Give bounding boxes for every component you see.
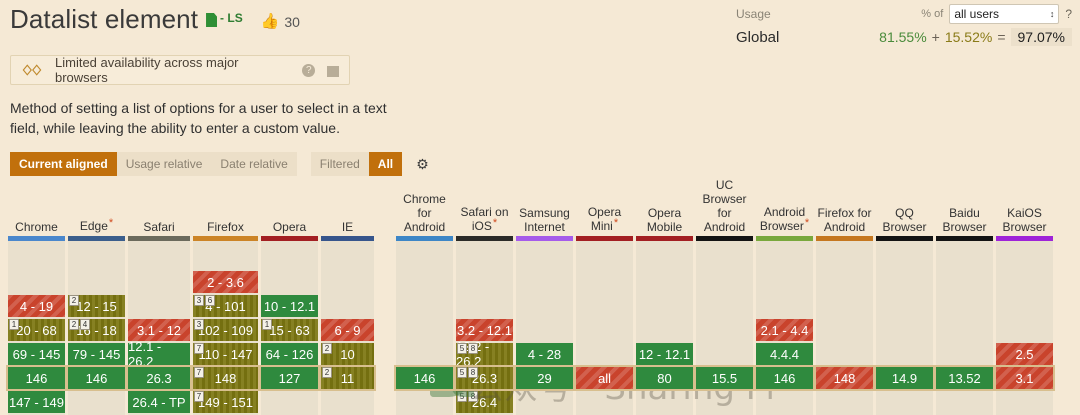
version-label: 147 - 149 — [9, 395, 64, 410]
page-title: Datalist element — [10, 4, 198, 35]
column-body: 2.1 - 4.44.4.4146 — [756, 241, 813, 415]
version-label: 11 — [341, 371, 355, 386]
version-cell[interactable]: 7149 - 151 — [193, 391, 258, 413]
footnote-badges: 36 — [194, 295, 215, 306]
btn-current-aligned[interactable]: Current aligned — [10, 152, 117, 176]
like-count: 30 — [284, 14, 300, 30]
version-cell — [321, 271, 374, 293]
usage-plus-sign: + — [932, 29, 940, 45]
column-header-label: KaiOS Browser — [996, 206, 1053, 234]
footnote-badge[interactable]: 8 — [468, 343, 478, 354]
spec-document-icon — [206, 13, 217, 27]
version-cell — [696, 295, 753, 317]
column-header-label: Opera Mobile — [636, 206, 693, 234]
version-label: 2.1 - 4.4 — [761, 323, 809, 338]
version-cell — [261, 271, 318, 293]
browser-column-qq-browser: QQ Browser14.9 — [876, 188, 933, 415]
feature-description: Method of setting a list of options for … — [10, 98, 410, 138]
version-cell[interactable]: 3102 - 109 — [193, 319, 258, 341]
usage-help-icon[interactable]: ? — [1065, 7, 1072, 21]
flag-icon[interactable] — [327, 66, 339, 77]
version-label: 26.3 — [146, 371, 171, 386]
column-body: 4 - 19120 - 6869 - 145146147 - 149 — [8, 241, 65, 415]
version-label: 110 - 147 — [199, 347, 253, 362]
browser-column-opera-mini: Opera Mini*all — [576, 188, 633, 415]
column-header-safari-on-ios[interactable]: Safari on iOS* — [456, 188, 513, 236]
column-header-baidu-browser[interactable]: Baidu Browser — [936, 188, 993, 236]
footnote-badges: 1 — [262, 319, 272, 330]
version-label: 2 - 3.6 — [207, 275, 244, 290]
footnote-badge[interactable]: 7 — [194, 391, 204, 402]
version-cell — [876, 271, 933, 293]
version-cell — [576, 295, 633, 317]
version-label: 3.1 — [1015, 371, 1033, 386]
version-label: 20 - 68 — [16, 323, 56, 338]
footnote-badge[interactable]: 5 — [457, 367, 467, 378]
footnote-badge[interactable]: 5 — [457, 391, 467, 402]
version-label: 102 - 109 — [198, 323, 253, 338]
browser-column-opera: Opera10 - 12.1115 - 6364 - 126127 — [261, 188, 318, 415]
version-cell[interactable]: 212 - 15 — [68, 295, 125, 317]
version-label: 149 - 151 — [198, 395, 253, 410]
chevron-updown-icon: ↕ — [1050, 10, 1055, 18]
column-body: 14.9 — [876, 241, 933, 415]
version-label: 146 — [414, 371, 436, 386]
version-cell — [816, 271, 873, 293]
column-header-label: Firefox for Android — [816, 206, 873, 234]
version-label: 146 — [26, 371, 48, 386]
version-cell[interactable]: 79 - 145 — [68, 343, 125, 365]
version-cell — [456, 295, 513, 317]
browser-column-safari: Safari3.1 - 1212.1 - 26.226.326.4 - TP — [128, 188, 190, 415]
version-cell-current[interactable]: 211 — [321, 367, 374, 389]
spec-status-badge[interactable]: - LS — [206, 11, 243, 25]
column-body: 148 — [816, 241, 873, 415]
version-cell — [636, 295, 693, 317]
footnote-badge[interactable]: 7 — [194, 367, 204, 378]
version-cell — [876, 391, 933, 413]
version-label: 26.4 - TP — [132, 395, 185, 410]
column-body: 3.1 - 1212.1 - 26.226.326.4 - TP — [128, 241, 190, 415]
title-row: Datalist element - LS 👍 30 — [10, 4, 300, 35]
version-label: 2.5 — [1015, 347, 1033, 362]
version-cell — [456, 271, 513, 293]
version-cell-current[interactable]: 13.52 — [936, 367, 993, 389]
version-cell[interactable]: 364 - 101 — [193, 295, 258, 317]
column-body: 2 - 3.6364 - 1013102 - 1097110 - 1477148… — [193, 241, 258, 415]
version-cell[interactable]: 3.1 - 12 — [128, 319, 190, 341]
version-cell — [996, 271, 1053, 293]
column-header-firefox[interactable]: Firefox — [193, 188, 258, 236]
version-cell[interactable]: 4.4.4 — [756, 343, 813, 365]
version-label: 3.2 - 12.1 — [457, 323, 512, 338]
version-cell — [996, 391, 1053, 413]
version-cell-current[interactable]: all — [576, 367, 633, 389]
column-header-edge[interactable]: Edge* — [68, 188, 125, 236]
version-cell-current[interactable]: 29 — [516, 367, 573, 389]
version-label: 13.52 — [948, 371, 981, 386]
version-cell-current[interactable]: 146 — [8, 367, 65, 389]
browser-group-desktop: Chrome4 - 19120 - 6869 - 145146147 - 149… — [8, 188, 374, 415]
column-body: 146 — [396, 241, 453, 415]
footnote-badge[interactable]: 2 — [69, 295, 79, 306]
usage-region-label: Global — [736, 29, 779, 46]
version-cell[interactable]: 147 - 149 — [8, 391, 65, 413]
btn-date-relative[interactable]: Date relative — [211, 152, 296, 176]
usage-label: Usage — [736, 7, 771, 21]
version-label: 6 - 9 — [334, 323, 360, 338]
asterisk-note-icon: * — [109, 217, 113, 229]
version-cell-current[interactable]: 127 — [261, 367, 318, 389]
version-label: 29 — [537, 371, 551, 386]
version-cell — [636, 391, 693, 413]
column-header-android-browser[interactable]: Android Browser* — [756, 188, 813, 236]
version-label: 4 - 19 — [20, 299, 53, 314]
version-cell — [696, 343, 753, 365]
version-cell-current[interactable]: 5826.3 — [456, 367, 513, 389]
version-cell — [516, 391, 573, 413]
version-cell-current[interactable]: 146 — [756, 367, 813, 389]
column-body: 6 - 9210211 — [321, 241, 374, 415]
column-header-label: Samsung Internet — [516, 206, 573, 234]
browser-column-baidu-browser: Baidu Browser13.52 — [936, 188, 993, 415]
table-toolbar: Current aligned Usage relative Date rela… — [10, 152, 429, 176]
version-cell[interactable]: 5826.4 — [456, 391, 513, 413]
version-cell[interactable]: 5812.2 - 26.2 — [456, 343, 513, 365]
version-cell — [261, 391, 318, 413]
version-cell-current[interactable]: 80 — [636, 367, 693, 389]
footnote-badges: 24 — [69, 319, 90, 330]
column-header-firefox-for-android[interactable]: Firefox for Android — [816, 188, 873, 236]
version-cell[interactable]: 2 - 3.6 — [193, 271, 258, 293]
view-mode-group: Current aligned Usage relative Date rela… — [10, 152, 297, 176]
version-cell — [636, 319, 693, 341]
column-header-label: IE — [342, 220, 353, 234]
page-header: Datalist element - LS 👍 30 Usage % of al… — [0, 0, 1080, 48]
version-cell-current[interactable]: 3.1 — [996, 367, 1053, 389]
version-cell — [876, 295, 933, 317]
version-label: 3.1 - 12 — [137, 323, 181, 338]
version-label: 69 - 145 — [13, 347, 61, 362]
version-cell — [128, 295, 190, 317]
version-cell-current[interactable]: 15.5 — [696, 367, 753, 389]
version-cell — [936, 391, 993, 413]
asterisk-note-icon: * — [805, 217, 809, 229]
column-body: 3.2 - 12.15812.2 - 26.25826.35826.4 — [456, 241, 513, 415]
column-header-chrome-for-android[interactable]: Chrome for Android — [396, 188, 453, 236]
version-cell — [396, 271, 453, 293]
browser-column-edge: Edge*212 - 152416 - 1879 - 145146 — [68, 188, 125, 415]
version-cell — [576, 391, 633, 413]
version-label: 14.9 — [892, 371, 917, 386]
baseline-limited-icon — [21, 62, 43, 78]
usage-partial-value: 15.52% — [945, 29, 992, 45]
version-cell[interactable]: 2.5 — [996, 343, 1053, 365]
version-cell[interactable]: 12.1 - 26.2 — [128, 343, 190, 365]
footnote-badge[interactable]: 3 — [194, 319, 204, 330]
version-label: 146 — [86, 371, 108, 386]
version-label: 4.4.4 — [770, 347, 799, 362]
version-label: 12.1 - 26.2 — [128, 339, 190, 369]
thumbs-up-icon: 👍 — [261, 14, 280, 29]
column-header-label: Edge* — [80, 219, 113, 234]
column-body: all — [576, 241, 633, 415]
version-label: 12 - 12.1 — [639, 347, 690, 362]
browser-column-firefox: Firefox2 - 3.6364 - 1013102 - 1097110 - … — [193, 188, 258, 415]
version-cell — [996, 319, 1053, 341]
version-cell — [636, 271, 693, 293]
column-header-kaios-browser[interactable]: KaiOS Browser — [996, 188, 1053, 236]
version-label: 127 — [279, 371, 301, 386]
version-cell[interactable]: 6 - 9 — [321, 319, 374, 341]
version-cell — [516, 295, 573, 317]
usage-equals-sign: = — [997, 29, 1005, 45]
usage-global-row: Global 81.55% + 15.52% = 97.07% — [736, 26, 1072, 48]
version-label: 15 - 63 — [269, 323, 309, 338]
column-header-label: Baidu Browser — [936, 206, 993, 234]
baseline-text: Limited availability across major browse… — [55, 55, 290, 85]
version-cell — [516, 271, 573, 293]
percent-of-label: % of — [921, 8, 943, 20]
version-cell — [396, 391, 453, 413]
question-circle-icon[interactable]: ? — [302, 64, 315, 77]
version-cell[interactable]: 115 - 63 — [261, 319, 318, 341]
column-header-safari[interactable]: Safari — [128, 188, 190, 236]
version-cell — [396, 319, 453, 341]
version-cell — [756, 295, 813, 317]
footnote-badge[interactable]: 8 — [468, 391, 478, 402]
footnote-badge[interactable]: 8 — [468, 367, 478, 378]
browser-column-kaios-browser: KaiOS Browser2.53.1 — [996, 188, 1053, 415]
version-cell[interactable]: 4 - 28 — [516, 343, 573, 365]
column-body: 13.52 — [936, 241, 993, 415]
version-cell-current[interactable]: 26.3 — [128, 367, 190, 389]
version-cell — [321, 391, 374, 413]
version-cell — [996, 295, 1053, 317]
filter-group: Filtered All — [311, 152, 402, 176]
column-header-label: Android Browser* — [756, 205, 813, 234]
baseline-banner[interactable]: Limited availability across major browse… — [10, 55, 350, 85]
column-header-samsung-internet[interactable]: Samsung Internet — [516, 188, 573, 236]
usage-supported-value: 81.55% — [879, 29, 926, 45]
browser-column-firefox-for-android: Firefox for Android148 — [816, 188, 873, 415]
footnote-badges: 7 — [194, 367, 204, 378]
column-header-opera[interactable]: Opera — [261, 188, 318, 236]
version-cell — [516, 319, 573, 341]
column-header-label: Firefox — [207, 220, 244, 234]
footnote-badge[interactable]: 2 — [69, 319, 79, 330]
column-header-uc-browser-for-android[interactable]: UC Browser for Android — [696, 188, 753, 236]
version-cell — [576, 319, 633, 341]
version-cell-current[interactable]: 7148 — [193, 367, 258, 389]
version-label: 10 — [340, 347, 354, 362]
column-header-label: UC Browser for Android — [696, 178, 753, 234]
version-cell — [68, 391, 125, 413]
version-label: 10 - 12.1 — [264, 299, 315, 314]
version-cell[interactable]: 64 - 126 — [261, 343, 318, 365]
version-cell-current[interactable]: 148 — [816, 367, 873, 389]
version-cell — [816, 391, 873, 413]
browser-column-chrome: Chrome4 - 19120 - 6869 - 145146147 - 149 — [8, 188, 65, 415]
footnote-badges: 2 — [69, 295, 79, 306]
version-cell — [816, 295, 873, 317]
column-header-label: Safari on iOS* — [456, 205, 513, 234]
column-body: 10 - 12.1115 - 6364 - 126127 — [261, 241, 318, 415]
version-cell — [936, 319, 993, 341]
version-cell — [816, 319, 873, 341]
browser-column-android-browser: Android Browser*2.1 - 4.44.4.4146 — [756, 188, 813, 415]
gear-icon[interactable]: ⚙ — [416, 156, 429, 173]
column-header-label: Opera Mini* — [576, 205, 633, 234]
column-header-chrome[interactable]: Chrome — [8, 188, 65, 236]
footnote-badge[interactable]: 4 — [80, 319, 90, 330]
footnote-badges: 7 — [194, 343, 204, 354]
browser-column-opera-mobile: Opera Mobile12 - 12.180 — [636, 188, 693, 415]
version-cell — [816, 343, 873, 365]
version-cell — [68, 271, 125, 293]
version-cell — [936, 343, 993, 365]
column-header-label: Opera — [273, 220, 306, 234]
btn-all[interactable]: All — [369, 152, 402, 176]
footnote-badges: 1 — [9, 319, 19, 330]
version-cell — [756, 391, 813, 413]
version-cell[interactable]: 10 - 12.1 — [261, 295, 318, 317]
column-header-ie[interactable]: IE — [321, 188, 374, 236]
browser-column-chrome-for-android: Chrome for Android146 — [396, 188, 453, 415]
footnote-badges: 2 — [322, 367, 332, 378]
footnote-badge[interactable]: 2 — [322, 367, 332, 378]
spec-status-label: - LS — [220, 11, 243, 25]
audience-select-value: all users — [954, 7, 999, 21]
footnote-badge[interactable]: 2 — [322, 343, 332, 354]
footnote-badges: 7 — [194, 391, 204, 402]
version-cell[interactable]: 7110 - 147 — [193, 343, 258, 365]
browser-group-mobile: Chrome for Android146Safari on iOS*3.2 -… — [396, 188, 1053, 415]
version-cell — [696, 271, 753, 293]
browser-support-table: Chrome4 - 19120 - 6869 - 145146147 - 149… — [8, 188, 1072, 415]
version-cell — [696, 319, 753, 341]
footnote-badges: 2 — [322, 343, 332, 354]
usage-header-row: Usage % of all users ↕ ? — [736, 4, 1072, 24]
footnote-badge[interactable]: 7 — [194, 343, 204, 354]
footnote-badges: 58 — [457, 367, 478, 378]
version-cell — [396, 295, 453, 317]
usage-total-value: 97.07% — [1011, 28, 1072, 46]
footnote-badges: 58 — [457, 391, 478, 402]
version-cell[interactable]: 120 - 68 — [8, 319, 65, 341]
footnote-badge[interactable]: 3 — [194, 295, 204, 306]
asterisk-note-icon: * — [493, 217, 497, 229]
like-counter[interactable]: 👍 30 — [261, 14, 300, 30]
column-header-label: QQ Browser — [876, 206, 933, 234]
version-cell-current[interactable]: 146 — [68, 367, 125, 389]
column-header-label: Chrome — [15, 220, 58, 234]
column-body: 15.5 — [696, 241, 753, 415]
column-header-opera-mini[interactable]: Opera Mini* — [576, 188, 633, 236]
version-cell[interactable]: 12 - 12.1 — [636, 343, 693, 365]
version-cell — [576, 271, 633, 293]
version-cell-current[interactable]: 146 — [396, 367, 453, 389]
version-cell — [756, 271, 813, 293]
version-cell[interactable]: 210 — [321, 343, 374, 365]
column-body: 12 - 12.180 — [636, 241, 693, 415]
version-label: all — [598, 371, 611, 386]
browser-column-ie: IE6 - 9210211 — [321, 188, 374, 415]
footnote-badge[interactable]: 6 — [205, 295, 215, 306]
footnote-badges: 3 — [194, 319, 204, 330]
version-cell[interactable]: 69 - 145 — [8, 343, 65, 365]
column-header-label: Chrome for Android — [396, 192, 453, 234]
footnote-badge[interactable]: 1 — [262, 319, 272, 330]
column-body: 2.53.1 — [996, 241, 1053, 415]
version-label: 148 — [215, 371, 237, 386]
version-label: 80 — [657, 371, 671, 386]
browser-column-samsung-internet: Samsung Internet4 - 2829 — [516, 188, 573, 415]
footnote-badge[interactable]: 1 — [9, 319, 19, 330]
column-body: 212 - 152416 - 1879 - 145146 — [68, 241, 125, 415]
btn-filtered[interactable]: Filtered — [311, 152, 369, 176]
version-cell — [936, 295, 993, 317]
usage-panel: Usage % of all users ↕ ? Global 81.55% +… — [736, 4, 1072, 48]
version-cell — [696, 391, 753, 413]
version-cell[interactable]: 2416 - 18 — [68, 319, 125, 341]
version-label: 15.5 — [712, 371, 737, 386]
version-cell — [8, 271, 65, 293]
btn-usage-relative[interactable]: Usage relative — [117, 152, 212, 176]
version-cell — [936, 271, 993, 293]
version-label: 12 - 15 — [76, 299, 116, 314]
version-cell — [876, 319, 933, 341]
version-cell — [576, 343, 633, 365]
version-cell[interactable]: 2.1 - 4.4 — [756, 319, 813, 341]
column-header-label: Safari — [143, 220, 174, 234]
version-label: 146 — [774, 371, 796, 386]
footnote-badges: 58 — [457, 343, 478, 354]
version-cell[interactable]: 3.2 - 12.1 — [456, 319, 513, 341]
browser-column-uc-browser-for-android: UC Browser for Android15.5 — [696, 188, 753, 415]
audience-select[interactable]: all users ↕ — [949, 4, 1059, 24]
version-cell — [876, 343, 933, 365]
browser-column-safari-on-ios: Safari on iOS*3.2 - 12.15812.2 - 26.2582… — [456, 188, 513, 415]
version-label: 4 - 28 — [528, 347, 561, 362]
column-body: 4 - 2829 — [516, 241, 573, 415]
version-cell[interactable]: 26.4 - TP — [128, 391, 190, 413]
version-label: 148 — [834, 371, 856, 386]
version-cell — [128, 271, 190, 293]
asterisk-note-icon: * — [614, 217, 618, 229]
version-label: 64 - 126 — [266, 347, 314, 362]
version-cell[interactable]: 4 - 19 — [8, 295, 65, 317]
version-cell-current[interactable]: 14.9 — [876, 367, 933, 389]
version-cell — [321, 295, 374, 317]
version-cell — [396, 343, 453, 365]
footnote-badge[interactable]: 5 — [457, 343, 467, 354]
column-header-qq-browser[interactable]: QQ Browser — [876, 188, 933, 236]
column-header-opera-mobile[interactable]: Opera Mobile — [636, 188, 693, 236]
version-label: 79 - 145 — [73, 347, 121, 362]
